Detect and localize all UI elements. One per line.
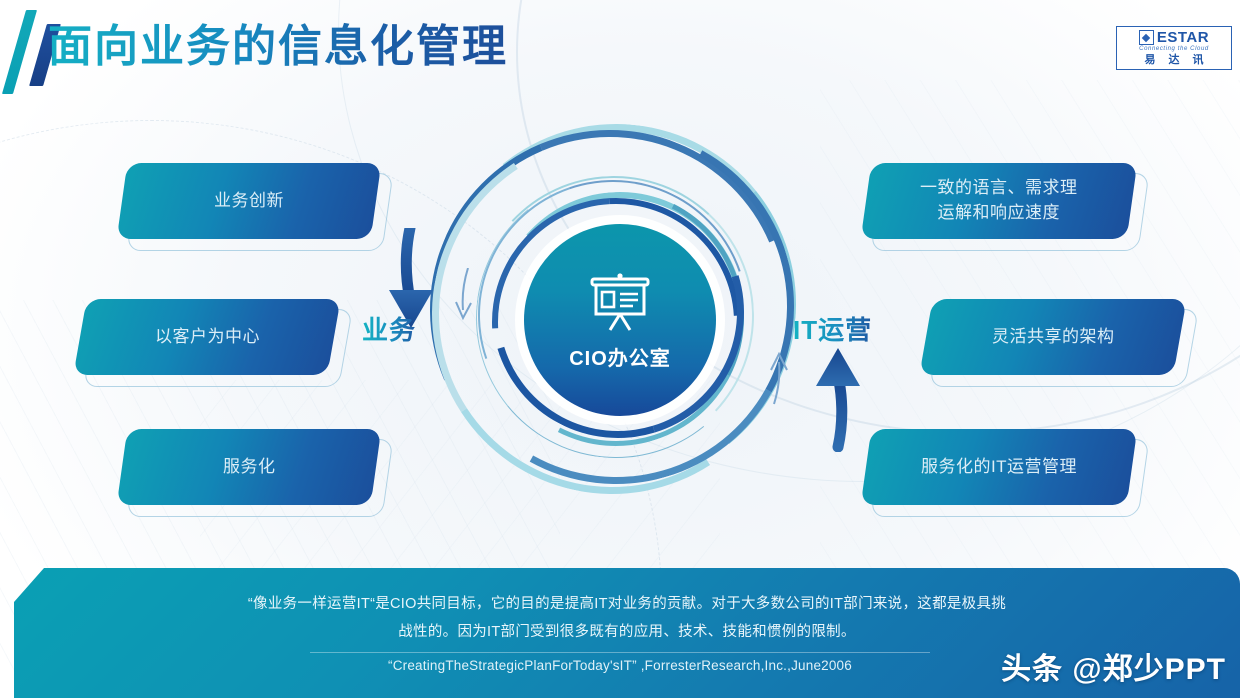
- presentation-board-icon: [583, 270, 657, 336]
- arrow-down-small-icon: [448, 268, 482, 322]
- brand-logo: ESTAR Connecting the Cloud 易 达 讯: [1116, 26, 1232, 70]
- estar-shield-icon: [1139, 30, 1154, 45]
- card-right-1-label: 一致的语言、需求理 运解和响应速度: [920, 176, 1078, 225]
- card-right-1[interactable]: 一致的语言、需求理 运解和响应速度: [861, 163, 1138, 239]
- logo-tagline: Connecting the Cloud: [1139, 46, 1209, 52]
- center-diagram: CIO办公室: [430, 120, 810, 550]
- card-right-1-line2: 运解和响应速度: [938, 203, 1061, 222]
- logo-top-row: ESTAR: [1139, 30, 1209, 45]
- flow-label-business: 业务: [362, 310, 416, 347]
- caption-line-1: “像业务一样运营IT“是CIO共同目标，它的目的是提高IT对业务的贡献。对于大多…: [110, 590, 1144, 618]
- center-label: CIO办公室: [569, 342, 671, 371]
- watermark: 头条 @郑少PPT: [1001, 644, 1226, 688]
- logo-wordmark: ESTAR: [1157, 30, 1209, 45]
- card-left-3[interactable]: 服务化: [117, 429, 382, 505]
- card-right-3-label: 服务化的IT运营管理: [921, 455, 1077, 480]
- card-left-3-label: 服务化: [223, 455, 276, 480]
- flow-label-it-operations: IT运营: [793, 310, 872, 347]
- logo-cn-char-1: 易: [1145, 55, 1156, 66]
- card-right-2[interactable]: 灵活共享的架构: [919, 299, 1186, 375]
- card-left-2-label: 以客户为中心: [155, 325, 260, 350]
- card-left-1-label: 业务创新: [214, 189, 284, 214]
- logo-cn-char-3: 讯: [1193, 55, 1204, 66]
- arrow-up-small-icon: [760, 352, 794, 406]
- logo-chinese-name: 易 达 讯: [1145, 55, 1204, 66]
- logo-cn-char-2: 达: [1169, 55, 1180, 66]
- slide-root: 面向业务的信息化管理 ESTAR Connecting the Cloud 易 …: [0, 0, 1240, 698]
- card-left-1[interactable]: 业务创新: [117, 163, 382, 239]
- card-left-2[interactable]: 以客户为中心: [73, 299, 340, 375]
- card-right-3[interactable]: 服务化的IT运营管理: [861, 429, 1138, 505]
- arrow-up-icon: [790, 342, 880, 452]
- center-circle: CIO办公室: [524, 224, 716, 416]
- card-right-2-label: 灵活共享的架构: [992, 325, 1114, 350]
- caption-line-2: 战性的。因为IT部门受到很多既有的应用、技术、技能和惯例的限制。: [110, 618, 1144, 646]
- caption-divider: [310, 652, 930, 653]
- page-title: 面向业务的信息化管理: [48, 22, 508, 73]
- card-right-1-line1: 一致的语言、需求理: [920, 178, 1078, 197]
